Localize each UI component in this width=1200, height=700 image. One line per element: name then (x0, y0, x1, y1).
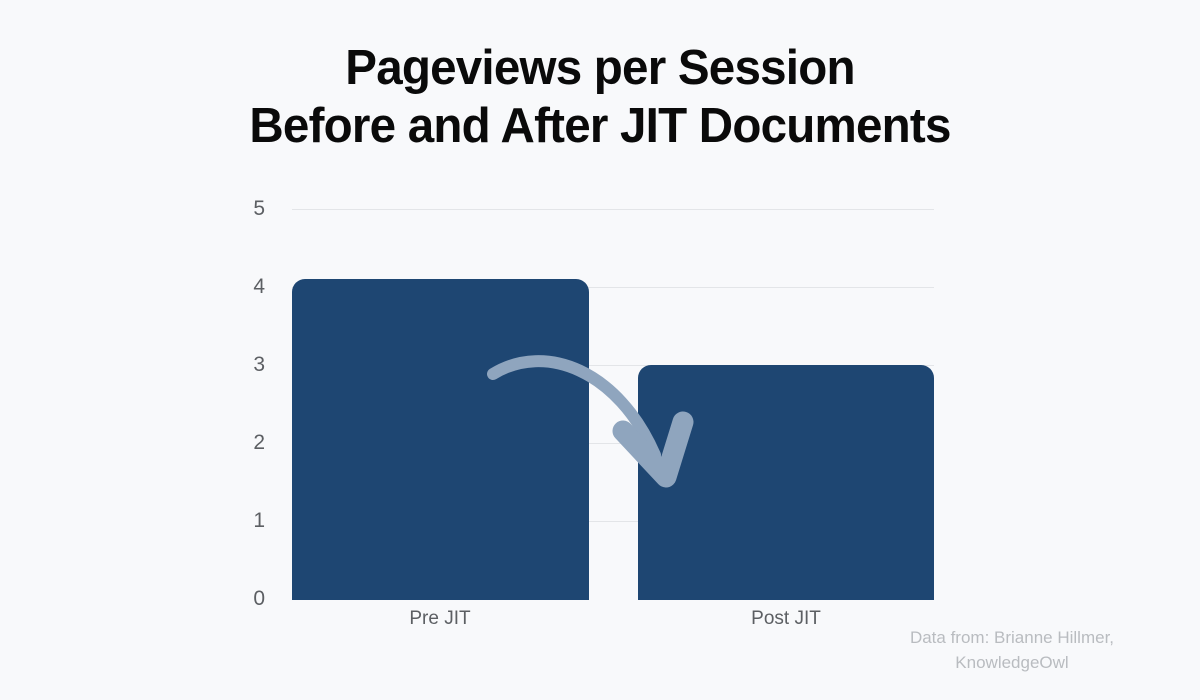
y-tick-2: 2 (225, 431, 265, 455)
x-label-pre-jit: Pre JIT (340, 608, 540, 630)
y-tick-3: 3 (225, 353, 265, 377)
chart-poster: Pageviews per Session Before and After J… (0, 0, 1200, 700)
y-tick-1: 1 (225, 509, 265, 533)
credit-line-1: Data from: Brianne Hillmer, (910, 628, 1114, 647)
source-credit: Data from: Brianne Hillmer, KnowledgeOwl (852, 626, 1172, 675)
y-tick-4: 4 (225, 275, 265, 299)
bar-chart: 5 4 3 2 1 0 Pre JIT Post JIT (0, 0, 1200, 700)
y-axis: 5 4 3 2 1 0 (0, 0, 1200, 700)
y-tick-0: 0 (225, 587, 265, 611)
y-tick-5: 5 (225, 197, 265, 221)
credit-line-2: KnowledgeOwl (955, 653, 1068, 672)
